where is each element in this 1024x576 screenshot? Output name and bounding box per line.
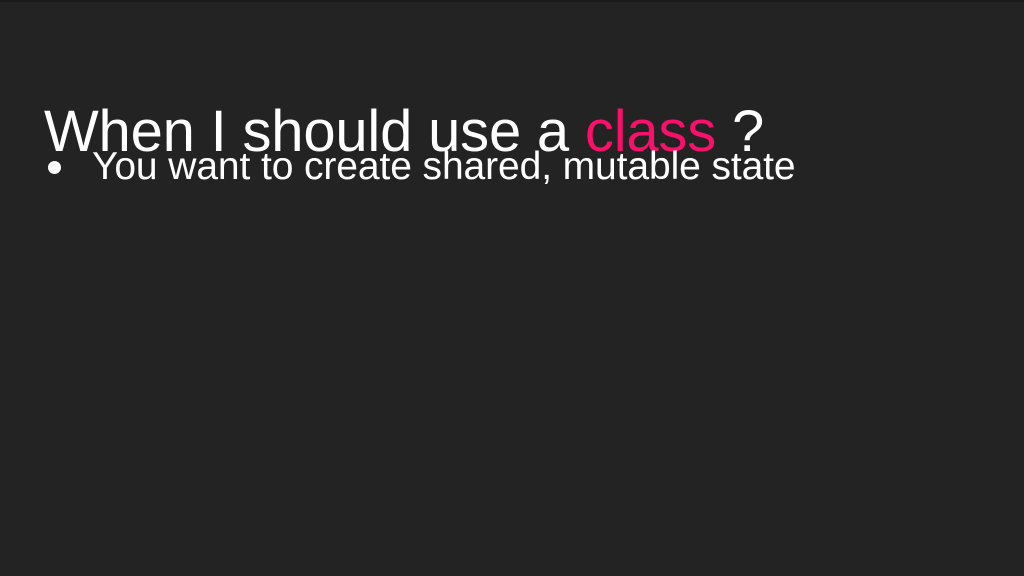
slide-top-edge [0,0,1024,2]
list-item: You want to create shared, mutable state [44,143,984,191]
filled-circle-bullet-icon [48,161,61,174]
presentation-slide: When I should use a class ? You want to … [0,0,1024,576]
slide-content-area [44,210,980,552]
bullet-item-label: You want to create shared, mutable state [92,143,984,191]
slide-bullet-list: You want to create shared, mutable state [44,143,984,191]
